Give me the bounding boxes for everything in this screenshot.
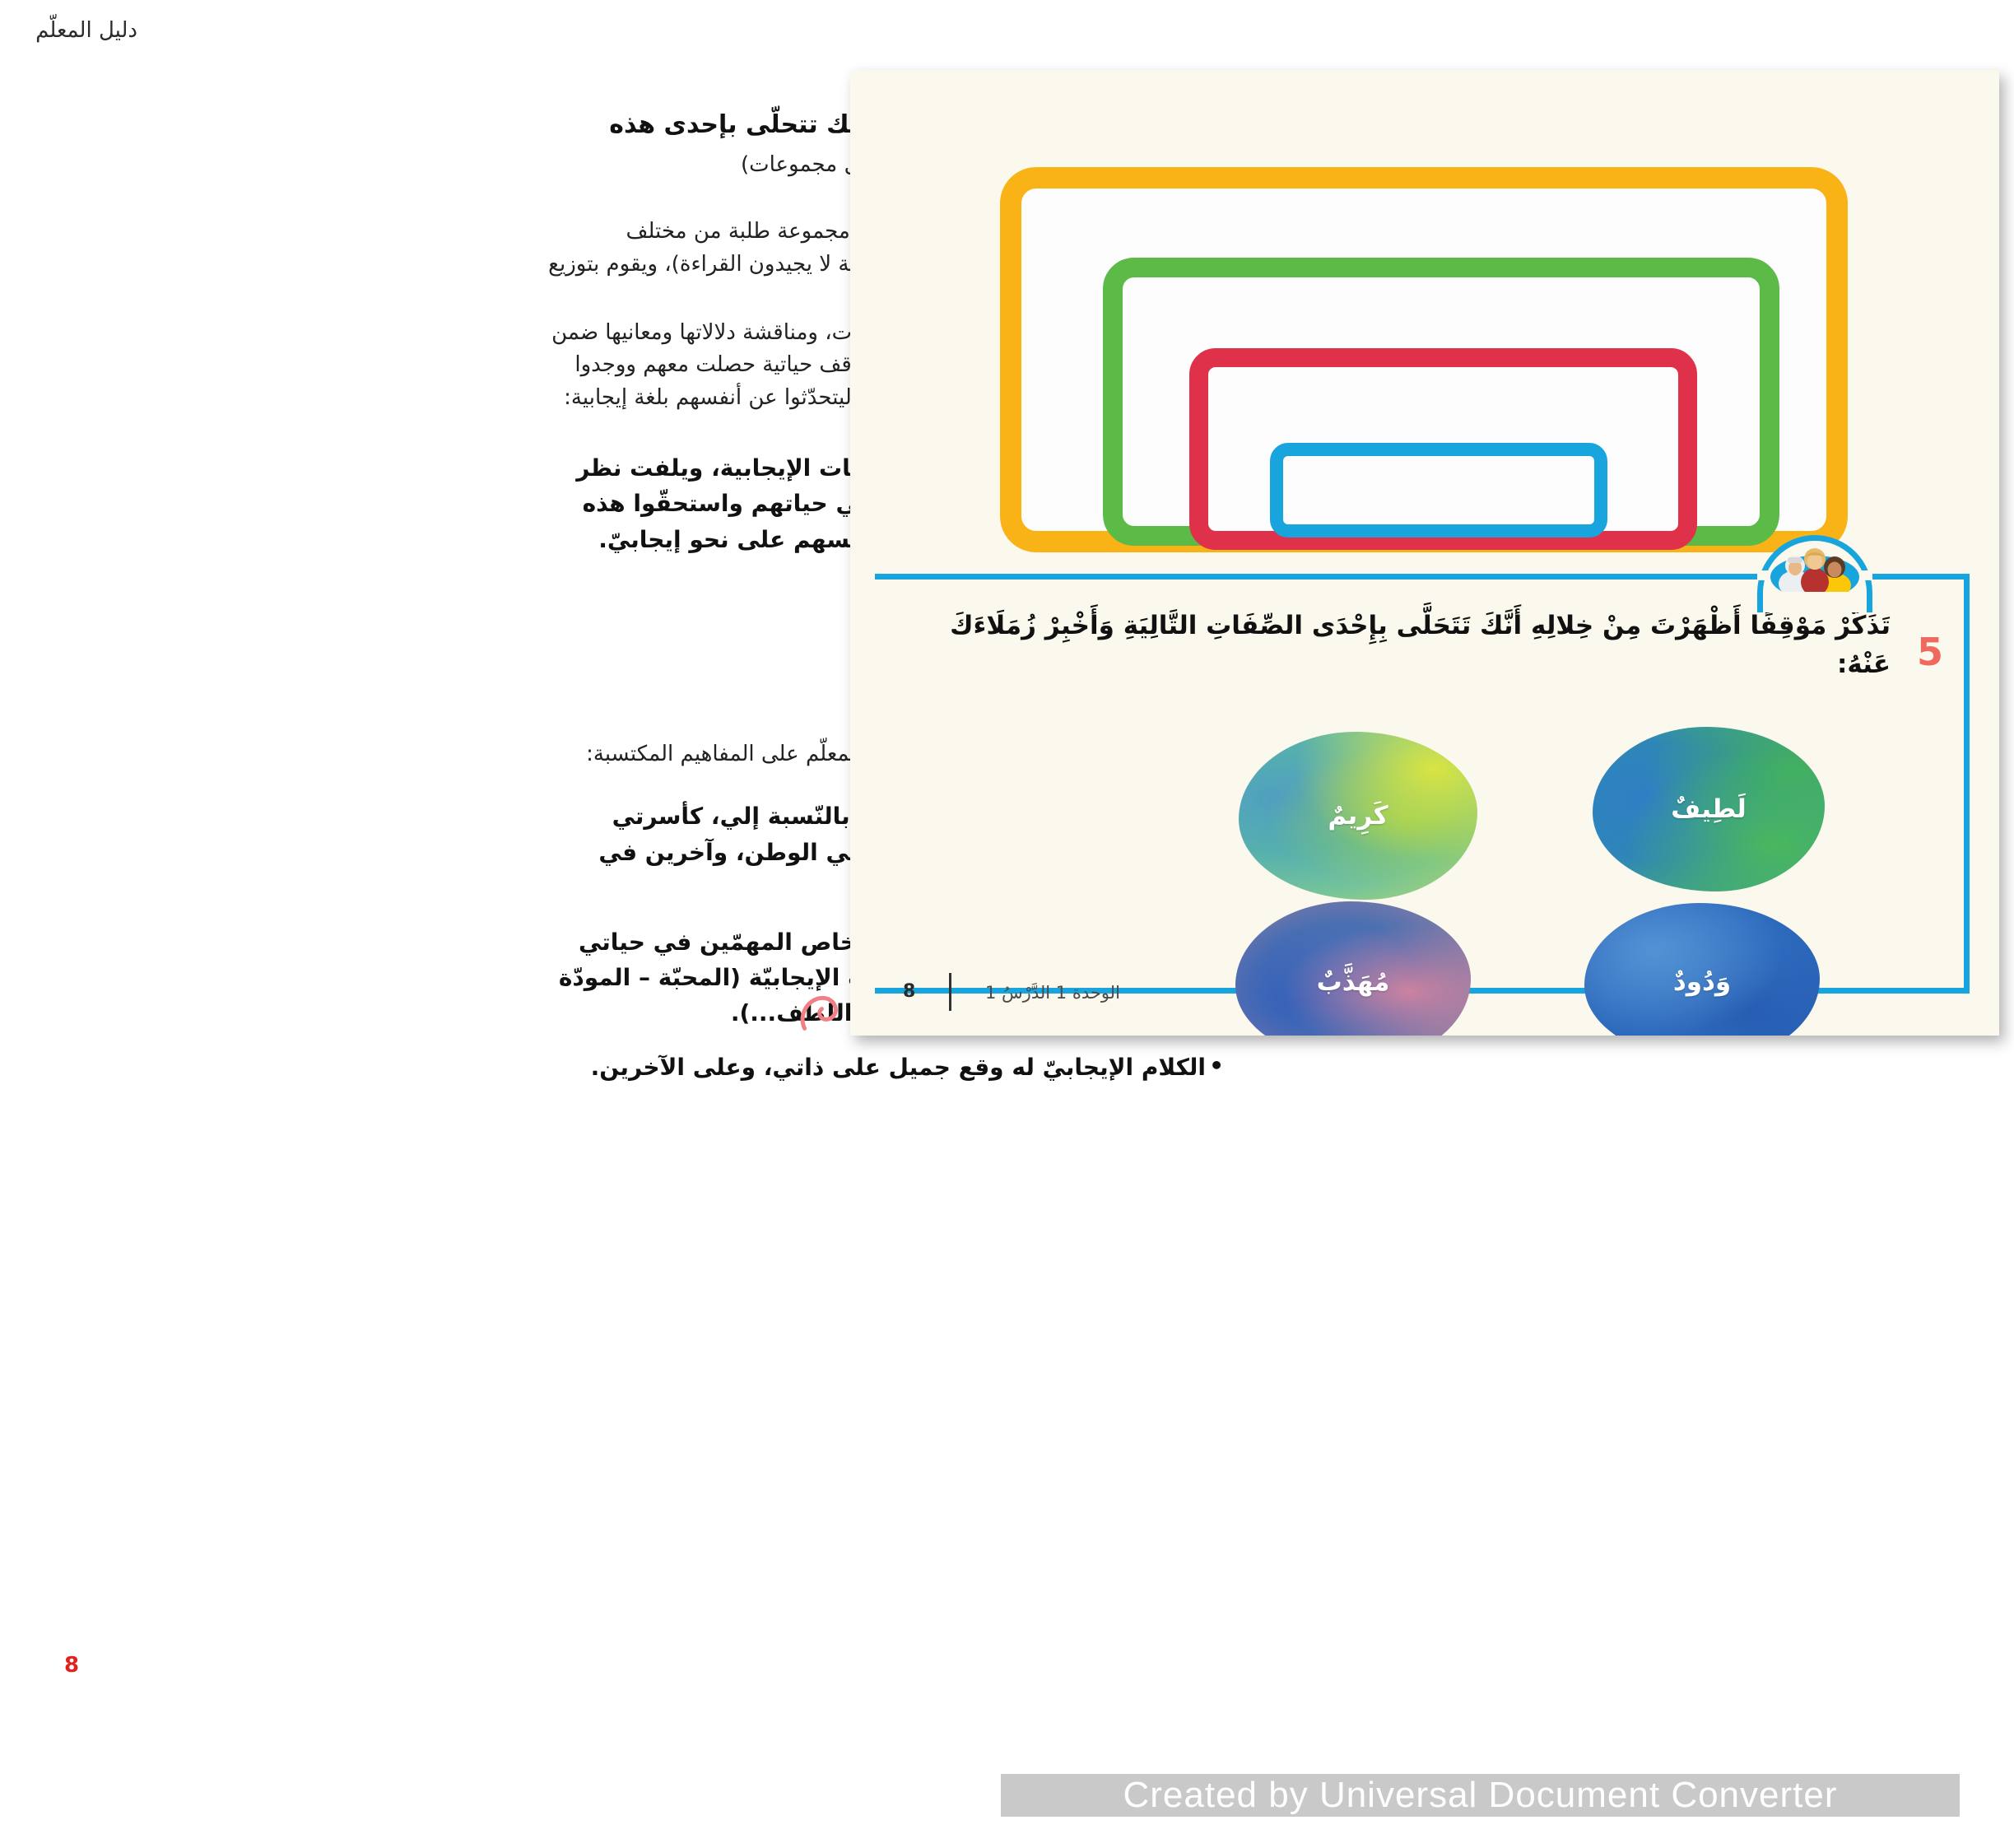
frame-blue xyxy=(1270,443,1607,538)
trait-blobs-grid: لَطِيفٌ كَرِيمٌ وَدُودٌ مُهَذَّبٌ xyxy=(933,727,1871,974)
activity-prompt: تَذَكَّرْ مَوْقِفًا أَظْهَرْتَ مِنْ خِلا… xyxy=(903,607,1891,684)
list-item: الكلام الإيجابيّ له وقع جميل على ذاتي، و… xyxy=(541,1050,1224,1085)
book-footer-page-number: 8 xyxy=(903,981,915,1002)
group-of-people-icon xyxy=(1767,541,1863,592)
book-page-footer: 8 الوحدة 1 الدَّرْسُ 1 xyxy=(850,971,1999,1017)
watermark: Created by Universal Document Converter xyxy=(1001,1774,1960,1817)
blob-karim[interactable]: كَرِيمٌ xyxy=(1239,732,1477,900)
activity-number-badge: 5 xyxy=(1904,630,1956,674)
colored-frames-illustration xyxy=(850,93,1999,562)
book-footer-text: الوحدة 1 الدَّرْسُ 1 xyxy=(985,983,1120,1003)
activity-block: 5 تَذَكَّرْ مَوْقِفًا أَظْهَرْتَ مِنْ خِ… xyxy=(875,574,1970,994)
running-head: دليل المعلّم xyxy=(123,18,137,43)
blob-label: لَطِيفٌ xyxy=(1671,794,1746,824)
book-footer-divider xyxy=(949,973,951,1011)
blob-label: كَرِيمٌ xyxy=(1328,801,1388,831)
textbook-page-preview: 5 تَذَكَّرْ مَوْقِفًا أَظْهَرْتَ مِنْ خِ… xyxy=(850,70,1999,1036)
blue-right-rail xyxy=(1964,574,1970,994)
blob-latif[interactable]: لَطِيفٌ xyxy=(1593,727,1825,891)
page-number: 8 xyxy=(64,1653,79,1678)
